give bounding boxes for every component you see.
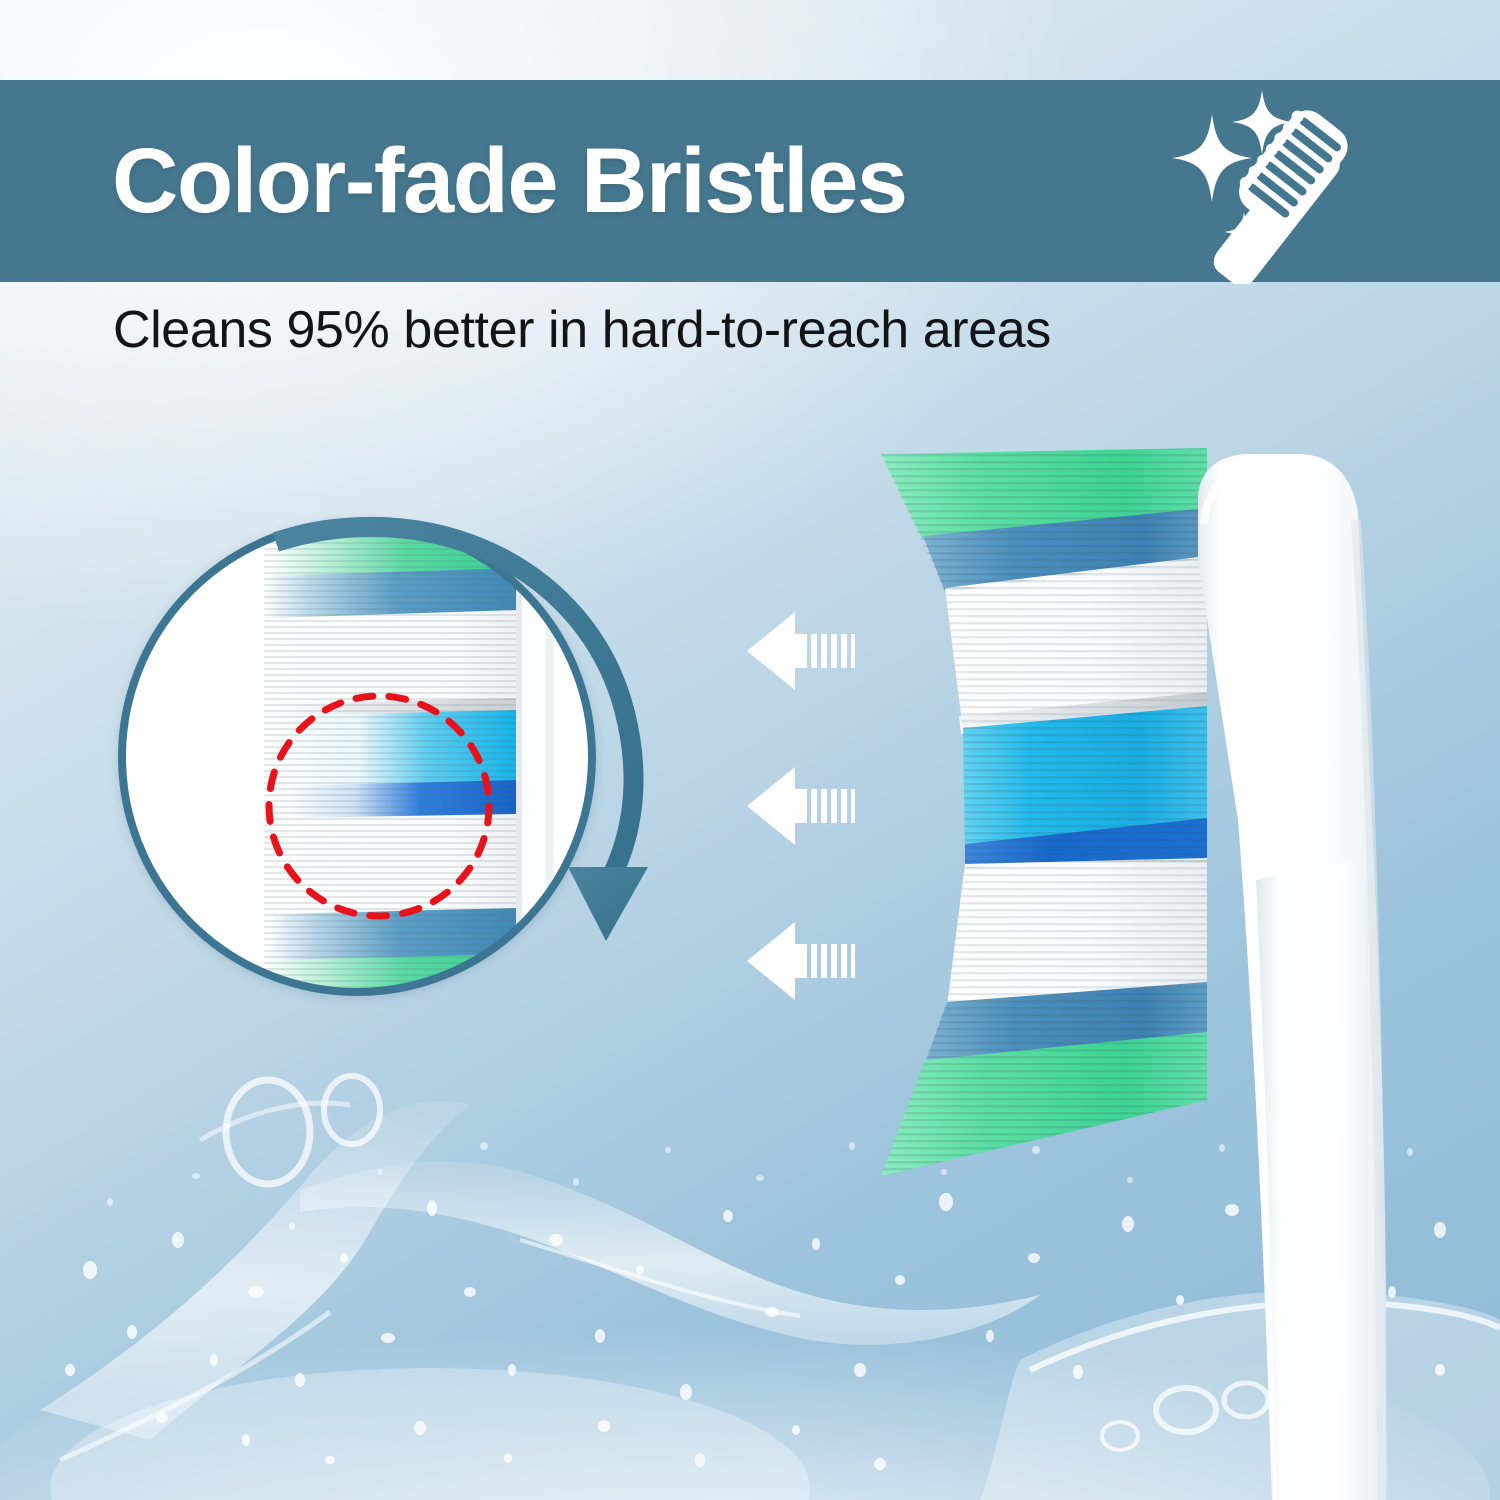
toothbrush-product xyxy=(855,440,1415,1500)
toothbrush-sparkle-icon xyxy=(1140,78,1440,284)
toothbrush-head-body xyxy=(1180,440,1430,1500)
color-fade-bristles xyxy=(855,440,1215,1185)
header-banner: Color-fade Bristles xyxy=(0,80,1500,282)
magnified-bristle-callout xyxy=(100,495,700,1095)
product-feature-banner: Color-fade Bristles xyxy=(0,0,1500,1500)
subtitle-claim: Cleans 95% better in hard-to-reach areas xyxy=(113,300,1051,360)
page-title: Color-fade Bristles xyxy=(112,135,907,227)
motion-arrow-bottom xyxy=(745,918,855,1004)
zoom-callout-arrow xyxy=(100,495,700,1095)
motion-arrow-top xyxy=(745,608,855,694)
motion-arrow-middle xyxy=(745,763,855,849)
a11y-claim: 95% xyxy=(0,0,1,1)
